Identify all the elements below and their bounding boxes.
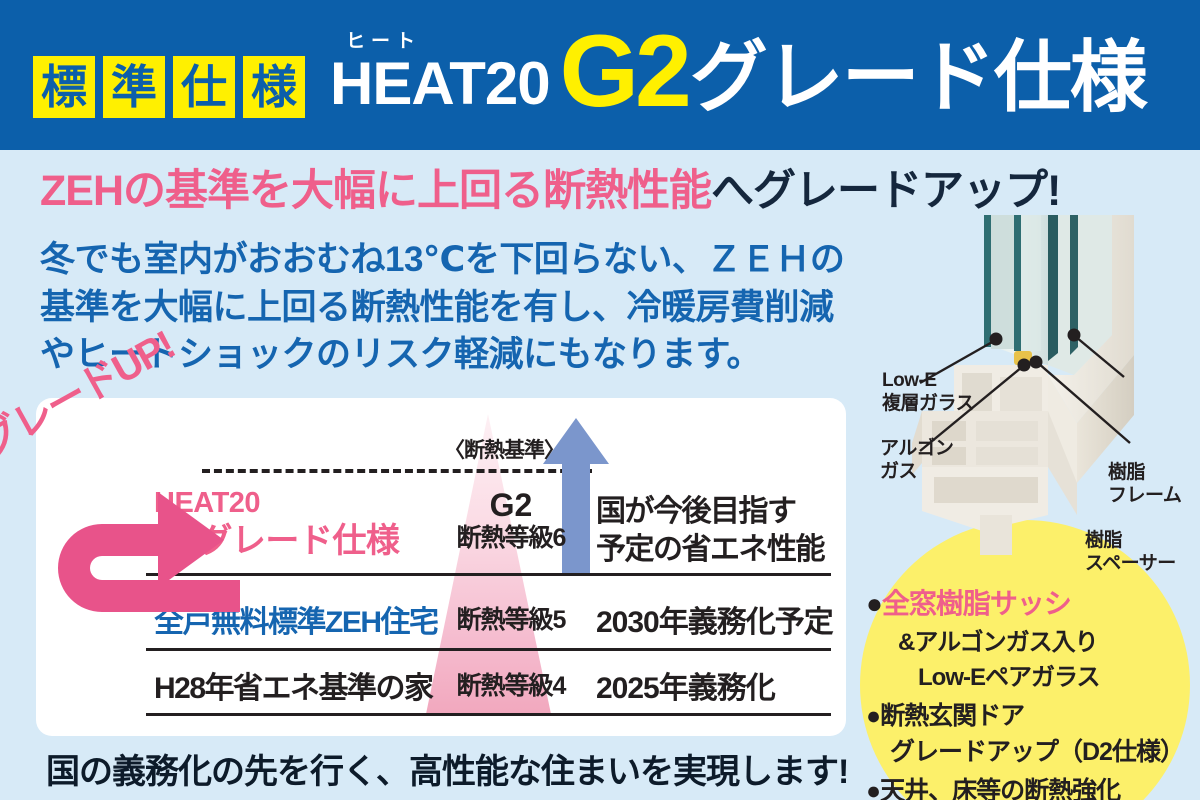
chart-row-3-status: 2025年義務化	[596, 663, 844, 707]
feature-list: ●全窓樹脂サッシ &アルゴンガス入り Low-Eペアガラス ●断熱玄関ドア グレ…	[866, 582, 1196, 800]
standard-spec-badge-group: 標 準 仕 様	[33, 56, 305, 118]
window-label-resin-spacer-line2: スペーサー	[1085, 553, 1176, 576]
bullet-dot-icon-1: ●	[866, 588, 882, 619]
grade-suffix-label: グレード仕様	[690, 40, 1146, 114]
infographic-root: 標 準 仕 様 ヒート HEAT20 G2 グレード仕様 ZEHの基準を大幅に上…	[0, 0, 1200, 800]
chart-row-1-grade-title: G2	[436, 488, 586, 524]
window-label-low-e: Low-E 複層ガラス	[882, 370, 974, 416]
bottom-caption: 国の義務化の先を行く、高性能な住まいを実現します!	[46, 744, 848, 793]
brand-block: ヒート HEAT20	[330, 26, 550, 114]
chart-row-3-grade-level: 断熱等級4	[436, 666, 586, 702]
chart-row-3-spec: H28年省エネ基準の家	[154, 663, 454, 707]
window-label-resin-frame: 樹脂 フレーム	[1108, 462, 1181, 508]
window-label-low-e-line1: Low-E	[882, 370, 974, 393]
window-label-resin-spacer: 樹脂 スペーサー	[1085, 530, 1176, 576]
feature-item-1-sub1: &アルゴンガス入り	[866, 622, 1196, 657]
chart-row-1-grade: G2 断熱等級6	[436, 488, 586, 552]
headline-dark-part: へグレードアップ!	[711, 167, 1060, 215]
window-label-resin-spacer-line1: 樹脂	[1085, 530, 1176, 553]
badge-char-2: 準	[103, 56, 165, 118]
body-copy-line-1: 冬でも室内がおおむね13℃を下回らない、ＺＥＨの	[40, 236, 870, 284]
header-bar: 標 準 仕 様 ヒート HEAT20 G2 グレード仕様	[0, 0, 1200, 150]
feature-item-2-sub1: グレードアップ（D2仕様）	[866, 732, 1196, 768]
badge-char-1: 標	[33, 56, 95, 118]
chart-row-2-grade-level: 断熱等級5	[436, 600, 586, 636]
window-label-argon-line2: ガス	[880, 461, 953, 484]
chart-divider-1	[146, 573, 831, 576]
feature-item-1-sub2: Low-Eペアガラス	[866, 657, 1196, 692]
chart-row-1-status-line2: 予定の省エネ性能	[596, 531, 844, 569]
feature-item-1: ●全窓樹脂サッシ	[866, 582, 1196, 622]
feature-item-1-main: 全窓樹脂サッシ	[882, 588, 1071, 619]
grade-up-arrow-icon	[40, 470, 240, 630]
badge-char-4: 様	[243, 56, 305, 118]
headline-pink-part: ZEHの基準を大幅に上回る断熱性能	[40, 167, 711, 215]
chart-row-1-grade-level: 断熱等級6	[436, 524, 586, 552]
grade-label: G2	[560, 30, 688, 114]
chart-divider-3	[146, 713, 831, 716]
window-label-resin-frame-line1: 樹脂	[1108, 462, 1181, 485]
chart-row-1-status: 国が今後目指す 予定の省エネ性能	[596, 493, 844, 569]
chart-row-1-status-line1: 国が今後目指す	[596, 493, 844, 531]
header-title-group: ヒート HEAT20 G2 グレード仕様	[330, 26, 1146, 114]
feature-item-2: ●断熱玄関ドア	[866, 696, 1196, 732]
feature-item-3-main: 天井、床等の断熱強化	[880, 777, 1120, 800]
bullet-dot-icon-3: ●	[866, 777, 880, 800]
window-label-low-e-line2: 複層ガラス	[882, 393, 974, 416]
badge-char-3: 仕	[173, 56, 235, 118]
chart-divider-2	[146, 648, 831, 651]
standard-dashed-line	[202, 469, 592, 473]
window-label-resin-frame-line2: フレーム	[1108, 485, 1181, 508]
chart-row-2-status: 2030年義務化予定	[596, 597, 844, 641]
window-label-argon: アルゴン ガス	[880, 438, 953, 484]
feature-item-3: ●天井、床等の断熱強化	[866, 771, 1196, 800]
feature-item-2-main: 断熱玄関ドア	[880, 702, 1024, 730]
brand-ruby: ヒート	[346, 26, 421, 53]
page-headline: ZEHの基準を大幅に上回る断熱性能へグレードアップ!	[40, 168, 1060, 215]
bullet-dot-icon-2: ●	[866, 702, 880, 730]
window-label-argon-line1: アルゴン	[880, 438, 953, 461]
